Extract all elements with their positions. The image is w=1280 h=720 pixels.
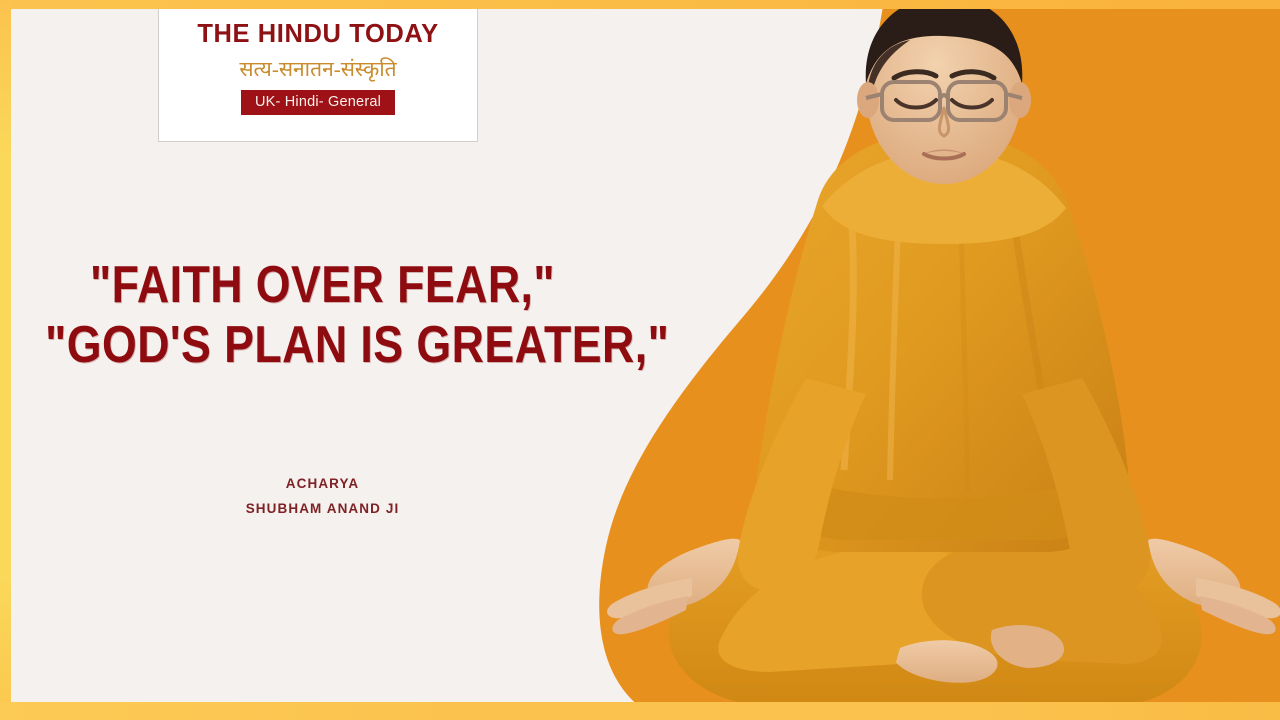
quote-block: "FAITH OVER FEAR," "GOD'S PLAN IS GREATE… bbox=[0, 255, 645, 376]
brand-subtitle-hindi: सत्य-सनातन-संस्कृति bbox=[239, 57, 396, 81]
brand-category-badge: UK- Hindi- General bbox=[241, 90, 395, 115]
quote-card: THE HINDU TODAY सत्य-सनातन-संस्कृति UK- … bbox=[0, 0, 1280, 720]
quote-line-1: "FAITH OVER FEAR," bbox=[45, 255, 600, 315]
frame-left-border bbox=[0, 0, 11, 720]
frame-top-border bbox=[0, 0, 1280, 9]
quote-line-2: "GOD'S PLAN IS GREATER," bbox=[45, 315, 600, 375]
frame-bottom-border bbox=[0, 702, 1280, 720]
attribution-block: ACHARYA SHUBHAM ANAND JI bbox=[0, 472, 645, 522]
brand-title: THE HINDU TODAY bbox=[197, 22, 438, 48]
attribution-line-2: SHUBHAM ANAND JI bbox=[0, 497, 645, 522]
meditating-monk-figure bbox=[600, 0, 1280, 720]
brand-logo-card: THE HINDU TODAY सत्य-सनातन-संस्कृति UK- … bbox=[158, 8, 478, 142]
attribution-line-1: ACHARYA bbox=[0, 472, 645, 497]
